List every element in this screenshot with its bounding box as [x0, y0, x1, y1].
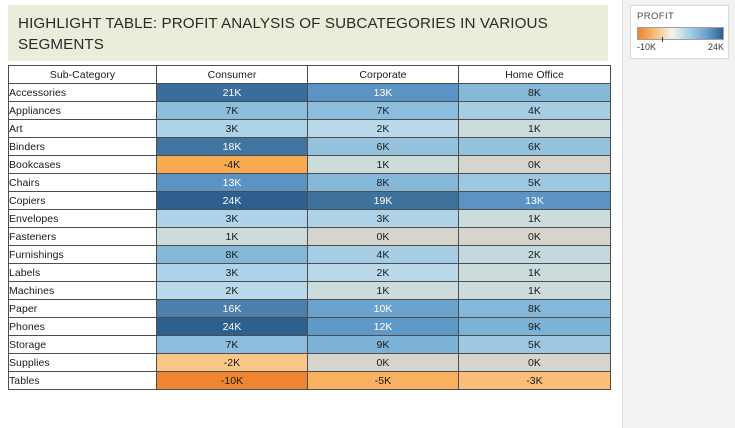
heat-cell[interactable]: 3K — [157, 120, 308, 138]
row-label-bookcases[interactable]: Bookcases — [9, 156, 157, 174]
row-label-furnishings[interactable]: Furnishings — [9, 246, 157, 264]
heat-cell[interactable]: 1K — [157, 228, 308, 246]
column-header-consumer[interactable]: Consumer — [157, 66, 308, 84]
legend-panel: PROFIT -10K 24K — [622, 0, 735, 428]
heat-cell[interactable]: 1K — [459, 210, 611, 228]
heat-cell[interactable]: 3K — [308, 210, 459, 228]
legend-min-label: -10K — [637, 42, 656, 52]
table-row: Furnishings8K4K2K — [9, 246, 611, 264]
heat-cell[interactable]: 9K — [308, 336, 459, 354]
row-label-chairs[interactable]: Chairs — [9, 174, 157, 192]
heat-cell[interactable]: 16K — [157, 300, 308, 318]
heat-cell[interactable]: 4K — [459, 102, 611, 120]
row-label-binders[interactable]: Binders — [9, 138, 157, 156]
table-row: Storage7K9K5K — [9, 336, 611, 354]
legend-max-label: 24K — [708, 42, 724, 52]
heat-cell[interactable]: 2K — [308, 264, 459, 282]
table-row: Fasteners1K0K0K — [9, 228, 611, 246]
table-row: Envelopes3K3K1K — [9, 210, 611, 228]
row-label-art[interactable]: Art — [9, 120, 157, 138]
heat-cell[interactable]: 2K — [308, 120, 459, 138]
row-label-accessories[interactable]: Accessories — [9, 84, 157, 102]
heat-cell[interactable]: 1K — [308, 282, 459, 300]
legend-title: PROFIT — [637, 11, 722, 23]
heat-cell[interactable]: 6K — [459, 138, 611, 156]
table-body: Accessories21K13K8KAppliances7K7K4KArt3K… — [9, 84, 611, 390]
heat-cell[interactable]: 0K — [459, 354, 611, 372]
table-row: Labels3K2K1K — [9, 264, 611, 282]
table-row: Copiers24K19K13K — [9, 192, 611, 210]
heat-cell[interactable]: -5K — [308, 372, 459, 390]
heat-cell[interactable]: 1K — [308, 156, 459, 174]
row-label-envelopes[interactable]: Envelopes — [9, 210, 157, 228]
column-header-corporate[interactable]: Corporate — [308, 66, 459, 84]
heat-cell[interactable]: 8K — [459, 300, 611, 318]
heat-cell[interactable]: 8K — [308, 174, 459, 192]
heat-cell[interactable]: 0K — [459, 228, 611, 246]
highlight-table: Sub-CategoryConsumerCorporateHome Office… — [8, 65, 611, 390]
row-label-tables[interactable]: Tables — [9, 372, 157, 390]
row-label-paper[interactable]: Paper — [9, 300, 157, 318]
heat-cell[interactable]: -3K — [459, 372, 611, 390]
profit-color-legend[interactable]: PROFIT -10K 24K — [630, 5, 729, 59]
row-label-phones[interactable]: Phones — [9, 318, 157, 336]
table-row: Accessories21K13K8K — [9, 84, 611, 102]
heat-cell[interactable]: 12K — [308, 318, 459, 336]
table-row: Tables-10K-5K-3K — [9, 372, 611, 390]
table-row: Bookcases-4K1K0K — [9, 156, 611, 174]
heat-cell[interactable]: 18K — [157, 138, 308, 156]
highlight-table-container[interactable]: Sub-CategoryConsumerCorporateHome Office… — [8, 65, 608, 390]
table-row: Phones24K12K9K — [9, 318, 611, 336]
heat-cell[interactable]: 13K — [157, 174, 308, 192]
table-row: Paper16K10K8K — [9, 300, 611, 318]
heat-cell[interactable]: 13K — [459, 192, 611, 210]
heat-cell[interactable]: 1K — [459, 120, 611, 138]
heat-cell[interactable]: 2K — [459, 246, 611, 264]
legend-ramp-holder — [637, 27, 724, 40]
heat-cell[interactable]: 1K — [459, 282, 611, 300]
heat-cell[interactable]: 0K — [308, 228, 459, 246]
heat-cell[interactable]: 10K — [308, 300, 459, 318]
page-title: HIGHLIGHT TABLE: PROFIT ANALYSIS OF SUBC… — [18, 13, 598, 55]
table-row: Appliances7K7K4K — [9, 102, 611, 120]
heat-cell[interactable]: 3K — [157, 264, 308, 282]
heat-cell[interactable]: 4K — [308, 246, 459, 264]
table-row: Art3K2K1K — [9, 120, 611, 138]
row-label-copiers[interactable]: Copiers — [9, 192, 157, 210]
heat-cell[interactable]: 24K — [157, 318, 308, 336]
heat-cell[interactable]: 6K — [308, 138, 459, 156]
row-label-machines[interactable]: Machines — [9, 282, 157, 300]
heat-cell[interactable]: 19K — [308, 192, 459, 210]
row-label-supplies[interactable]: Supplies — [9, 354, 157, 372]
column-header-sub-category[interactable]: Sub-Category — [9, 66, 157, 84]
legend-scale: -10K 24K — [637, 42, 724, 54]
column-header-home-office[interactable]: Home Office — [459, 66, 611, 84]
heat-cell[interactable]: 7K — [157, 102, 308, 120]
heat-cell[interactable]: 1K — [459, 264, 611, 282]
table-header-row: Sub-CategoryConsumerCorporateHome Office — [9, 66, 611, 84]
table-row: Chairs13K8K5K — [9, 174, 611, 192]
table-row: Machines2K1K1K — [9, 282, 611, 300]
heat-cell[interactable]: 24K — [157, 192, 308, 210]
dashboard-root: HIGHLIGHT TABLE: PROFIT ANALYSIS OF SUBC… — [0, 0, 735, 428]
heat-cell[interactable]: 9K — [459, 318, 611, 336]
heat-cell[interactable]: 8K — [459, 84, 611, 102]
worksheet-title-bar: HIGHLIGHT TABLE: PROFIT ANALYSIS OF SUBC… — [8, 5, 608, 61]
heat-cell[interactable]: 2K — [157, 282, 308, 300]
heat-cell[interactable]: -10K — [157, 372, 308, 390]
heat-cell[interactable]: 21K — [157, 84, 308, 102]
table-header: Sub-CategoryConsumerCorporateHome Office — [9, 66, 611, 84]
heat-cell[interactable]: -4K — [157, 156, 308, 174]
heat-cell[interactable]: -2K — [157, 354, 308, 372]
row-label-appliances[interactable]: Appliances — [9, 102, 157, 120]
worksheet-panel: HIGHLIGHT TABLE: PROFIT ANALYSIS OF SUBC… — [0, 0, 622, 428]
heat-cell[interactable]: 0K — [459, 156, 611, 174]
heat-cell[interactable]: 13K — [308, 84, 459, 102]
heat-cell[interactable]: 3K — [157, 210, 308, 228]
table-row: Supplies-2K0K0K — [9, 354, 611, 372]
heat-cell[interactable]: 7K — [308, 102, 459, 120]
row-label-storage[interactable]: Storage — [9, 336, 157, 354]
row-label-fasteners[interactable]: Fasteners — [9, 228, 157, 246]
heat-cell[interactable]: 7K — [157, 336, 308, 354]
legend-color-ramp[interactable] — [637, 27, 724, 40]
heat-cell[interactable]: 8K — [157, 246, 308, 264]
heat-cell[interactable]: 0K — [308, 354, 459, 372]
heat-cell[interactable]: 5K — [459, 174, 611, 192]
heat-cell[interactable]: 5K — [459, 336, 611, 354]
table-row: Binders18K6K6K — [9, 138, 611, 156]
row-label-labels[interactable]: Labels — [9, 264, 157, 282]
